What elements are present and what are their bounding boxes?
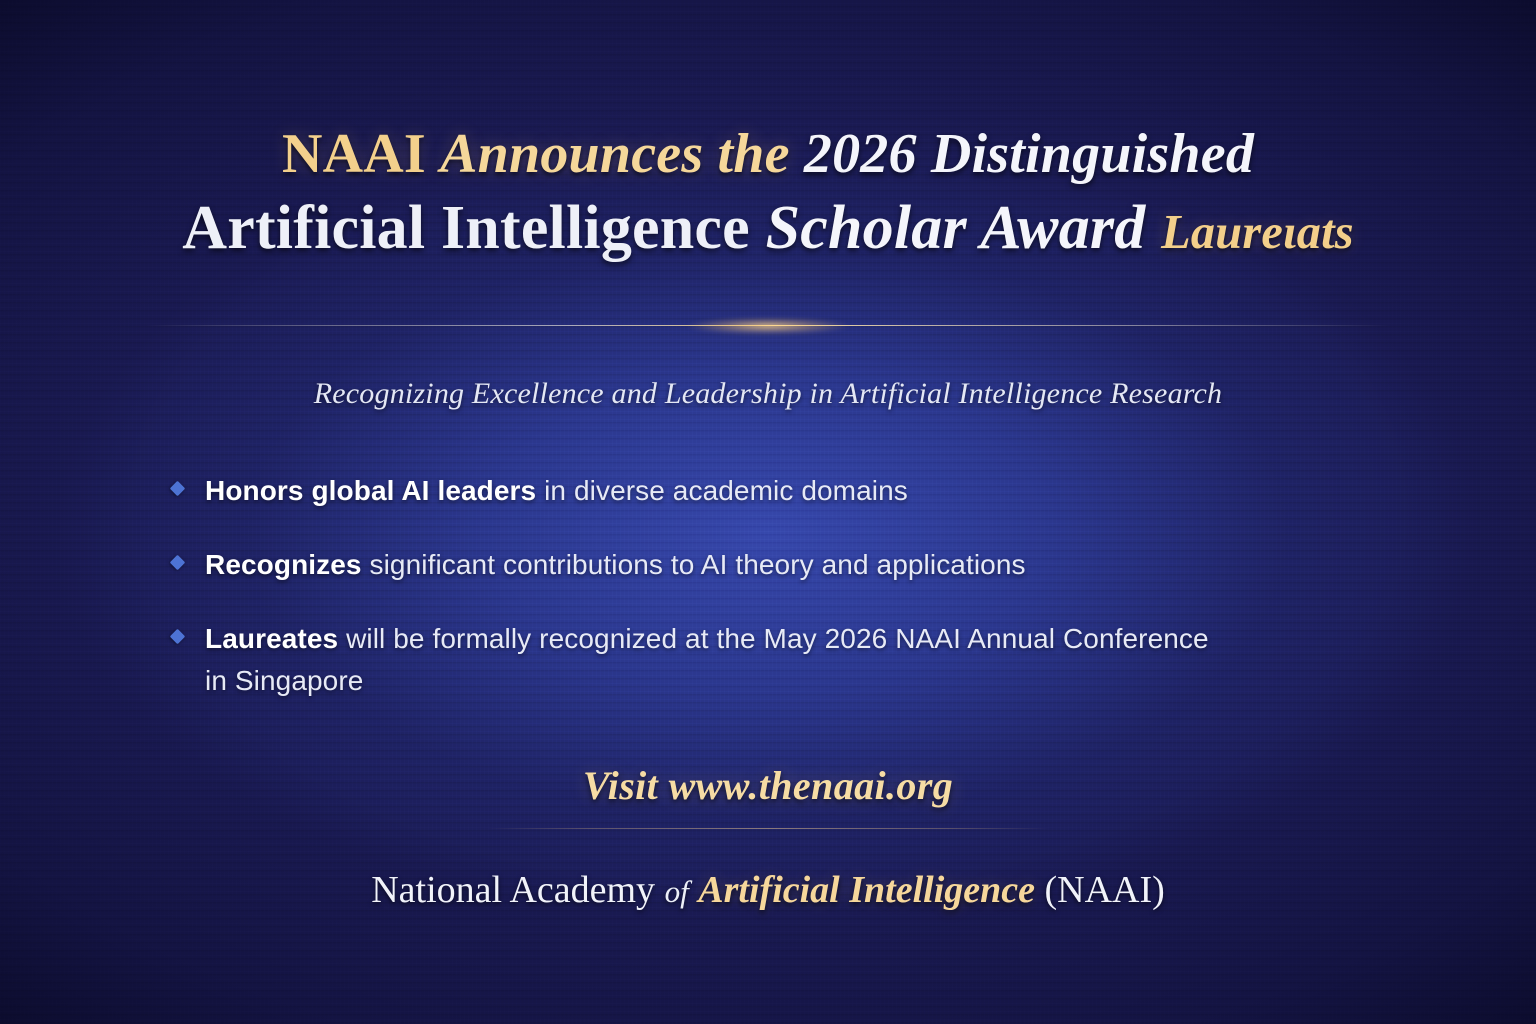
list-item-text: Laureates will be formally recognized at… — [205, 618, 1232, 702]
list-item-rest: in diverse academic domains — [536, 475, 908, 506]
list-item: Recognizes significant contributions to … — [172, 544, 1232, 586]
subtitle: Recognizing Excellence and Leadership in… — [0, 377, 1536, 411]
title-segment-naai: NAAI — [282, 123, 426, 185]
list-item: Laureates will be formally recognized at… — [172, 618, 1232, 702]
list-item-text: Honors global AI leaders in diverse acad… — [205, 470, 908, 512]
diamond-bullet-icon — [170, 555, 186, 571]
title-segment-artificial-intelligence: Artificial Intelligence — [182, 194, 750, 262]
list-item-rest: significant contributions to AI theory a… — [362, 549, 1026, 580]
bullet-list: Honors global AI leaders in diverse acad… — [172, 470, 1232, 734]
divider-center-glow-icon — [653, 314, 883, 338]
title-segment-laureates: Laureɩats — [1161, 206, 1354, 259]
title-line-1: NAAI Announces the 2026 Distinguished — [56, 126, 1480, 183]
title-segment-year-distinguished: 2026 Distinguished — [804, 123, 1254, 185]
list-item-lead: Honors global AI leaders — [205, 475, 536, 506]
page-title: NAAI Announces the 2026 Distinguished Ar… — [0, 126, 1536, 260]
cta-underline — [488, 828, 1048, 829]
list-item-text: Recognizes significant contributions to … — [205, 544, 1026, 586]
call-to-action: Visit www.thenaai.org — [0, 762, 1536, 821]
title-segment-announces: Announces the — [440, 123, 790, 185]
title-line-2: Artificial Intelligence Scholar Award La… — [56, 197, 1480, 260]
footer-segment-of: of — [665, 874, 689, 909]
slide-content: NAAI Announces the 2026 Distinguished Ar… — [0, 0, 1536, 1024]
footer-segment-artificial-intelligence: Artificial Intelligence — [698, 869, 1035, 911]
list-item: Honors global AI leaders in diverse acad… — [172, 470, 1232, 512]
list-item-lead: Laureates — [205, 623, 338, 654]
decorative-divider — [146, 324, 1390, 327]
diamond-bullet-icon — [170, 629, 186, 645]
footer-organization: National Academy of Artificial Intellige… — [0, 868, 1536, 912]
list-item-rest: will be formally recognized at the May 2… — [205, 623, 1209, 696]
diamond-bullet-icon — [170, 481, 186, 497]
website-link[interactable]: Visit www.thenaai.org — [583, 762, 953, 821]
footer-segment-national-academy: National Academy — [371, 869, 655, 911]
list-item-lead: Recognizes — [205, 549, 362, 580]
announcement-slide: NAAI Announces the 2026 Distinguished Ar… — [0, 0, 1536, 1024]
title-segment-scholar-award: Scholar Award — [766, 194, 1146, 262]
footer-segment-acronym: (NAAI) — [1045, 869, 1165, 911]
